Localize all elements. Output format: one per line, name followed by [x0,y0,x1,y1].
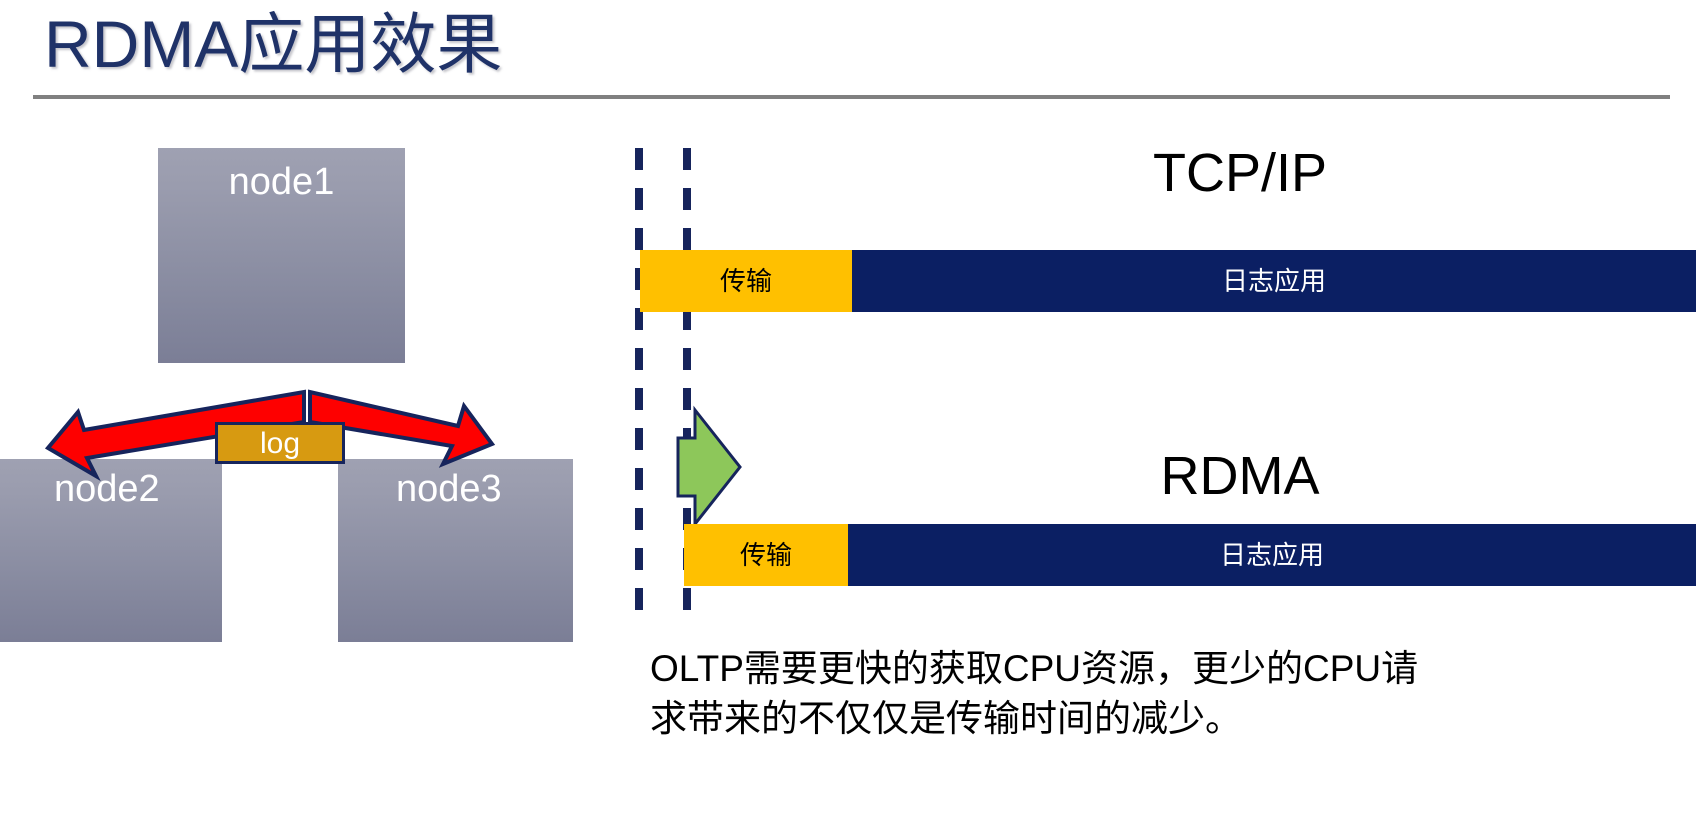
node-label-node1: node1 [158,160,405,204]
caption-text: OLTP需要更快的获取CPU资源，更少的CPU请 求带来的不仅仅是传输时间的减少… [650,644,1670,744]
protocol-label-tcpip: TCP/IP [940,143,1540,203]
protocol-label-rdma: RDMA [940,446,1540,506]
bar-segment-transfer-tcpip: 传输 [640,250,852,312]
slide-canvas: RDMA应用效果 node1 node2 node3 log TCP/IP 传输… [0,0,1696,826]
caption-line-1: OLTP需要更快的获取CPU资源，更少的CPU请 [650,644,1670,694]
bar-segment-log-application-rdma: 日志应用 [848,524,1696,586]
log-box: log [215,422,345,464]
timing-bar-tcpip: 传输 日志应用 [640,250,1696,312]
log-box-label: log [260,427,300,460]
timing-bar-rdma: 传输 日志应用 [684,524,1696,586]
bar-segment-transfer-rdma: 传输 [684,524,848,586]
reference-line-start [635,148,643,626]
caption-line-2: 求带来的不仅仅是传输时间的减少。 [650,694,1670,744]
green-right-arrow-icon [644,404,746,530]
bar-segment-log-application-tcpip: 日志应用 [852,250,1696,312]
title-divider [33,95,1670,99]
page-title: RDMA应用效果 [44,4,502,84]
replication-arrows [0,330,600,490]
